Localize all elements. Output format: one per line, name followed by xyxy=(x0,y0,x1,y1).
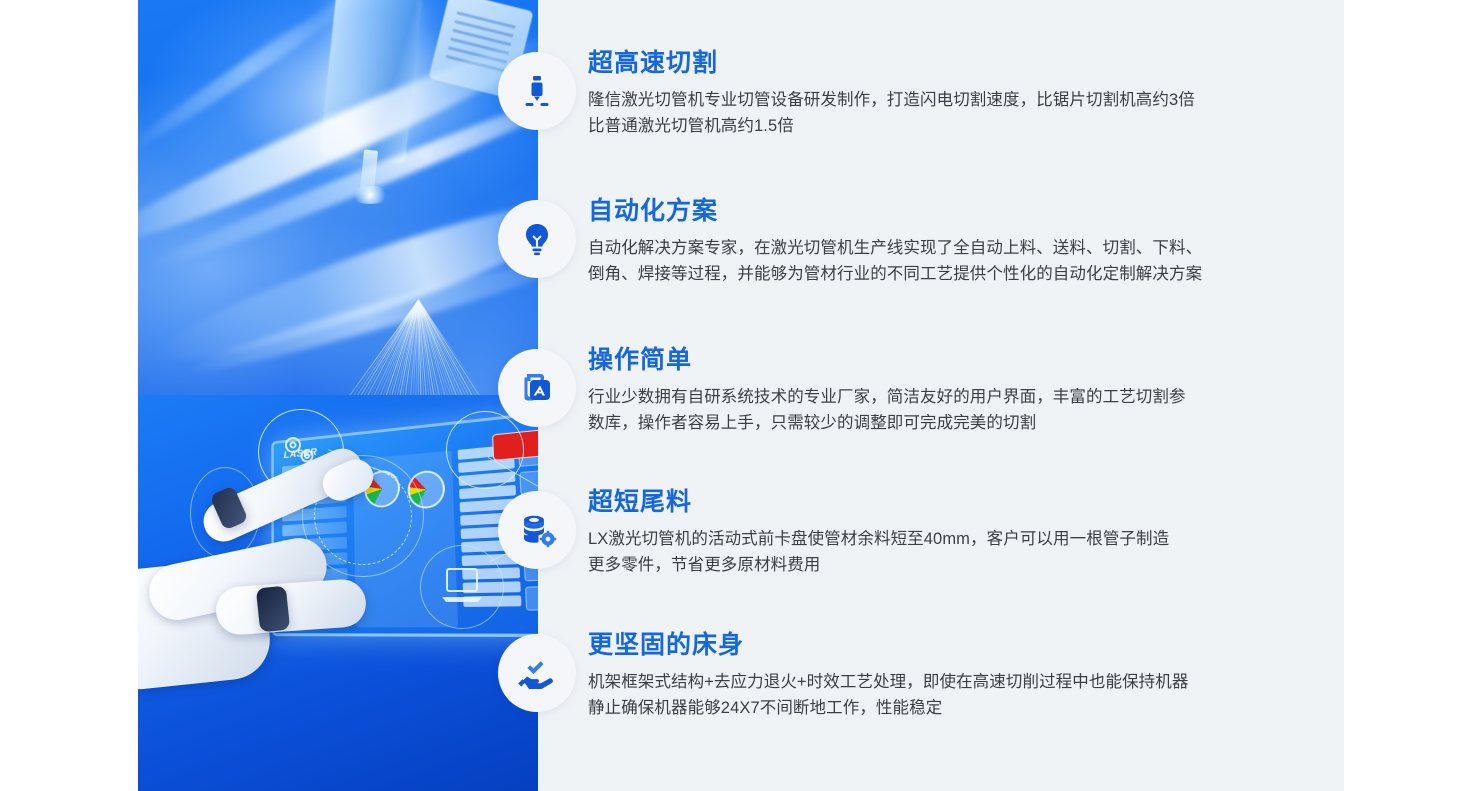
feature-description-line: 行业少数拥有自研系统技术的专业厂家，简洁友好的用户界面，丰富的工艺切割参 xyxy=(588,384,1186,411)
feature-description-line: 机架框架式结构+去应力退火+时效工艺处理，即使在高速切削过程中也能保持机器 xyxy=(588,669,1188,696)
feature-item: 自动化方案 自动化解决方案专家，在激光切管机生产线实现了全自动上料、送料、切割、… xyxy=(498,196,1318,288)
feature-item: 操作简单 行业少数拥有自研系统技术的专业厂家，简洁友好的用户界面，丰富的工艺切割… xyxy=(498,345,1318,437)
feature-description-line: 隆信激光切管机专业切管设备研发制作，打造闪电切割速度，比锯片切割机高约3倍 xyxy=(588,87,1195,114)
feature-title: 超短尾料 xyxy=(588,489,1169,517)
feature-item: 超高速切割 隆信激光切管机专业切管设备研发制作，打造闪电切割速度，比锯片切割机高… xyxy=(498,48,1318,140)
feature-text: 自动化方案 自动化解决方案专家，在激光切管机生产线实现了全自动上料、送料、切割、… xyxy=(588,196,1202,288)
feature-description-line: 数库，操作者容易上手，只需较少的调整即可完成完美的切割 xyxy=(588,410,1186,437)
feature-description: 机架框架式结构+去应力退火+时效工艺处理，即使在高速切削过程中也能保持机器 静止… xyxy=(588,669,1188,722)
database-gear-icon xyxy=(517,510,557,550)
feature-title: 自动化方案 xyxy=(588,198,1202,226)
hand-check-icon xyxy=(517,653,557,693)
feature-title: 更坚固的床身 xyxy=(588,632,1188,660)
feature-text: 更坚固的床身 机架框架式结构+去应力退火+时效工艺处理，即使在高速切削过程中也能… xyxy=(588,630,1188,722)
feature-title: 超高速切割 xyxy=(588,50,1195,78)
feature-text: 超短尾料 LX激光切管机的活动式前卡盘使管材余料短至40mm，客户可以用一根管子… xyxy=(588,487,1169,579)
feature-icon-badge xyxy=(498,349,576,427)
feature-description: 行业少数拥有自研系统技术的专业厂家，简洁友好的用户界面，丰富的工艺切割参 数库，… xyxy=(588,384,1186,437)
feature-description-line: 比普通激光切管机高约1.5倍 xyxy=(588,113,1195,140)
feature-icon-badge xyxy=(498,491,576,569)
page-root: LASER xyxy=(0,0,1480,791)
lightbulb-icon xyxy=(517,219,557,259)
feature-description-line: 倒角、焊接等过程，并能够为管材行业的不同工艺提供个性化的自动化定制解决方案 xyxy=(588,261,1202,288)
feature-list: 超高速切割 隆信激光切管机专业切管设备研发制作，打造闪电切割速度，比锯片切割机高… xyxy=(0,0,1480,791)
feature-description-line: LX激光切管机的活动式前卡盘使管材余料短至40mm，客户可以用一根管子制造 xyxy=(588,526,1169,553)
feature-description: LX激光切管机的活动式前卡盘使管材余料短至40mm，客户可以用一根管子制造 更多… xyxy=(588,526,1169,579)
feature-description: 自动化解决方案专家，在激光切管机生产线实现了全自动上料、送料、切割、下料、 倒角… xyxy=(588,235,1202,288)
feature-text: 超高速切割 隆信激光切管机专业切管设备研发制作，打造闪电切割速度，比锯片切割机高… xyxy=(588,48,1195,140)
feature-item: 超短尾料 LX激光切管机的活动式前卡盘使管材余料短至40mm，客户可以用一根管子… xyxy=(498,487,1318,579)
feature-icon-badge xyxy=(498,52,576,130)
feature-description-line: 静止确保机器能够24X7不间断地工作，性能稳定 xyxy=(588,695,1188,722)
feature-text: 操作简单 行业少数拥有自研系统技术的专业厂家，简洁友好的用户界面，丰富的工艺切割… xyxy=(588,345,1186,437)
feature-description-line: 更多零件，节省更多原材料费用 xyxy=(588,552,1169,579)
feature-icon-badge xyxy=(498,200,576,278)
feature-item: 更坚固的床身 机架框架式结构+去应力退火+时效工艺处理，即使在高速切削过程中也能… xyxy=(498,630,1318,722)
laser-cutting-head-icon xyxy=(517,71,557,111)
app-window-a-icon xyxy=(517,368,557,408)
feature-title: 操作简单 xyxy=(588,347,1186,375)
feature-description: 隆信激光切管机专业切管设备研发制作，打造闪电切割速度，比锯片切割机高约3倍 比普… xyxy=(588,87,1195,140)
feature-icon-badge xyxy=(498,634,576,712)
feature-description-line: 自动化解决方案专家，在激光切管机生产线实现了全自动上料、送料、切割、下料、 xyxy=(588,235,1202,262)
